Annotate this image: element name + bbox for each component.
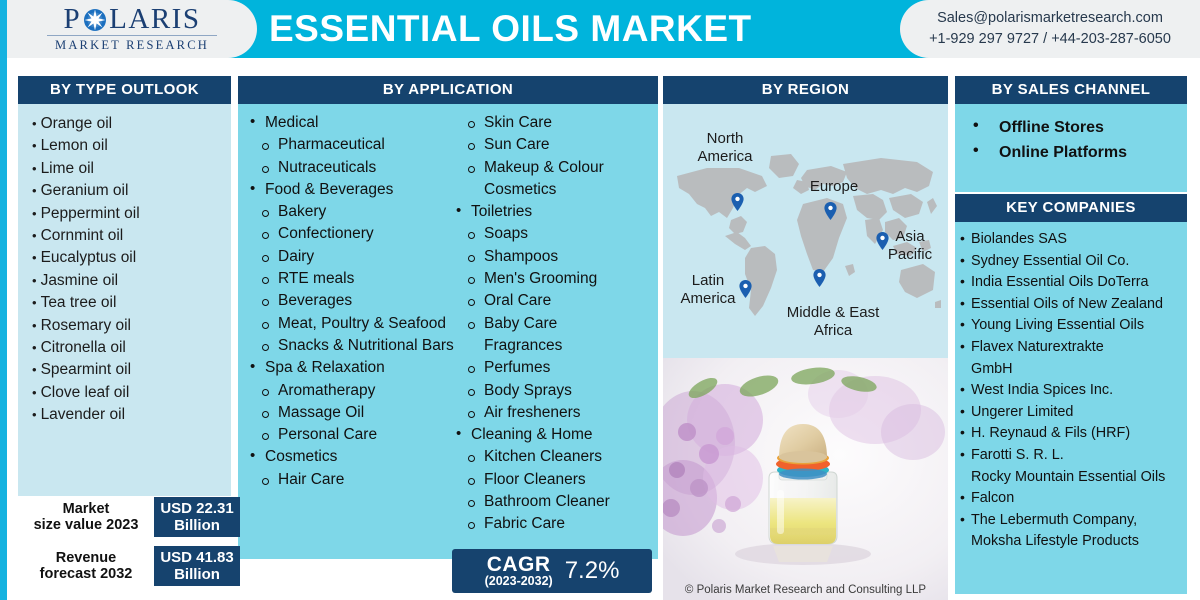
key-company-item: Biolandes SAS — [960, 229, 1183, 251]
type-outlook-item-label: Eucalyptus oil — [41, 249, 137, 266]
type-outlook-item: •Orange oil — [32, 113, 223, 135]
cagr-metric: CAGR (2023-2032) 7.2% — [452, 549, 652, 593]
bullet-icon: • — [32, 318, 37, 333]
sales-channel-list: Offline StoresOnline Platforms — [955, 104, 1187, 192]
application-item: Bathroom Cleaner — [454, 491, 652, 513]
application-item: Aromatherapy — [248, 380, 450, 402]
region-label-middle-east-africa-line1: Middle & East — [787, 304, 880, 321]
brand-logo[interactable]: P — [7, 0, 257, 58]
region-label-middle-east-africa-line2: Africa — [814, 322, 852, 339]
type-outlook-item-label: Rosemary oil — [41, 317, 131, 334]
application-item: Baby Care — [454, 313, 652, 335]
map-pin-icon-asia-pacific[interactable] — [876, 232, 889, 250]
logo-divider — [47, 35, 217, 36]
product-photo-illustration — [663, 358, 948, 600]
logo-wordmark: P — [64, 5, 201, 34]
panel-key-companies: KEY COMPANIES Biolandes SASSydney Essent… — [955, 194, 1187, 594]
market-size-label-line1: Market — [63, 501, 110, 517]
contact-info: Sales@polarismarketresearch.com +1-929 2… — [900, 0, 1200, 58]
key-company-item: Ungerer Limited — [960, 402, 1183, 424]
application-item: Shampoos — [454, 246, 652, 268]
type-outlook-item-label: Cornmint oil — [41, 227, 124, 244]
contact-phone[interactable]: +1-929 297 9727 / +44-203-287-6050 — [929, 29, 1171, 50]
type-outlook-item-label: Orange oil — [41, 115, 113, 132]
region-label-asia-pacific-line2: Pacific — [888, 246, 932, 263]
application-item: Makeup & Colour — [454, 157, 652, 179]
revenue-forecast-value: USD 41.83 Billion — [154, 546, 240, 586]
application-item: Spa & Relaxation — [248, 357, 450, 379]
key-company-item: West India Spices Inc. — [960, 380, 1183, 402]
key-company-item: India Essential Oils DoTerra — [960, 272, 1183, 294]
type-outlook-item: •Tea tree oil — [32, 292, 223, 314]
region-label-asia-pacific-line1: Asia — [895, 228, 924, 245]
panel-type-outlook-heading: BY TYPE OUTLOOK — [18, 76, 231, 104]
type-outlook-item: •Jasmine oil — [32, 270, 223, 292]
application-item: Medical — [248, 112, 450, 134]
application-item: Massage Oil — [248, 402, 450, 424]
region-label-north-america-line1: North — [707, 130, 744, 147]
panel-application-heading: BY APPLICATION — [238, 76, 658, 104]
key-company-item-continuation: Rocky Mountain Essential Oils — [960, 467, 1183, 489]
application-item: Oral Care — [454, 290, 652, 312]
revenue-forecast-label-line2: forecast 2032 — [40, 566, 133, 582]
key-company-item-continuation: Moksha Lifestyle Products — [960, 531, 1183, 553]
type-outlook-list: •Orange oil•Lemon oil•Lime oil•Geranium … — [18, 104, 231, 496]
contact-email[interactable]: Sales@polarismarketresearch.com — [937, 8, 1163, 29]
panel-sales-channel: BY SALES CHANNEL Offline StoresOnline Pl… — [955, 76, 1187, 192]
type-outlook-item-label: Peppermint oil — [41, 205, 140, 222]
region-label-europe-line1: Europe — [810, 178, 858, 195]
logo-tagline: MARKET RESEARCH — [55, 38, 209, 53]
market-size-value-line1: USD 22.31 — [160, 500, 233, 517]
bullet-icon: • — [32, 407, 37, 422]
market-size-label: Market size value 2023 — [18, 497, 154, 537]
application-item: RTE meals — [248, 268, 450, 290]
header-bar: P — [7, 0, 1200, 58]
bullet-icon: • — [32, 228, 37, 243]
key-company-item: Farotti S. R. L. — [960, 445, 1183, 467]
panel-application: BY APPLICATION MedicalPharmaceuticalNutr… — [238, 76, 658, 559]
application-item: Kitchen Cleaners — [454, 446, 652, 468]
application-item: Floor Cleaners — [454, 469, 652, 491]
type-outlook-item: •Geranium oil — [32, 180, 223, 202]
panel-region: BY REGION — [663, 76, 948, 379]
application-item: Bakery — [248, 201, 450, 223]
market-size-value: USD 22.31 Billion — [154, 497, 240, 537]
cagr-period: (2023-2032) — [485, 575, 553, 588]
application-item: Soaps — [454, 223, 652, 245]
bullet-icon: • — [32, 385, 37, 400]
type-outlook-item-label: Clove leaf oil — [41, 384, 130, 401]
panel-sales-channel-heading: BY SALES CHANNEL — [955, 76, 1187, 104]
key-company-item: Falcon — [960, 488, 1183, 510]
key-company-item: Flavex Naturextrakte — [960, 337, 1183, 359]
map-pin-icon-middle-east-africa[interactable] — [813, 269, 826, 287]
revenue-forecast-metric: Revenue forecast 2032 USD 41.83 Billion — [18, 546, 240, 586]
application-item: Cosmetics — [454, 179, 652, 201]
star-icon — [82, 7, 108, 33]
application-item: Pharmaceutical — [248, 134, 450, 156]
application-item: Fabric Care — [454, 513, 652, 535]
sales-channel-item: Online Platforms — [967, 140, 1181, 165]
application-item: Personal Care — [248, 424, 450, 446]
bullet-icon: • — [32, 116, 37, 131]
type-outlook-item: •Citronella oil — [32, 337, 223, 359]
application-item: Confectionery — [248, 223, 450, 245]
application-item: Perfumes — [454, 357, 652, 379]
left-edge-strip — [0, 0, 7, 600]
type-outlook-item-label: Jasmine oil — [41, 272, 119, 289]
bullet-icon: • — [32, 250, 37, 265]
region-map-body: North America Europe Asia Pacific Latin … — [663, 104, 948, 379]
bullet-icon: • — [32, 206, 37, 221]
application-list-right: Skin CareSun CareMakeup & ColourCosmetic… — [450, 112, 652, 553]
bullet-icon: • — [32, 138, 37, 153]
key-company-item: The Lebermuth Company, — [960, 510, 1183, 532]
photo-copyright: © Polaris Market Research and Consulting… — [663, 584, 948, 596]
map-pin-icon-north-america[interactable] — [731, 193, 744, 211]
bullet-icon: • — [32, 362, 37, 377]
key-company-item: Sydney Essential Oil Co. — [960, 251, 1183, 273]
type-outlook-item: •Spearmint oil — [32, 359, 223, 381]
region-label-north-america: North America — [679, 130, 771, 165]
market-size-metric: Market size value 2023 USD 22.31 Billion — [18, 497, 240, 537]
cagr-label-group: CAGR (2023-2032) — [485, 554, 553, 588]
region-label-latin-america: Latin America — [667, 272, 749, 307]
type-outlook-item: •Lime oil — [32, 158, 223, 180]
map-pin-icon-latin-america[interactable] — [739, 280, 752, 298]
application-item: Hair Care — [248, 469, 450, 491]
map-pin-icon-europe[interactable] — [824, 202, 837, 220]
bullet-icon: • — [32, 295, 37, 310]
cagr-value: 7.2% — [565, 557, 620, 585]
application-item: Air fresheners — [454, 402, 652, 424]
key-company-item-continuation: GmbH — [960, 359, 1183, 381]
application-item: Cosmetics — [248, 446, 450, 468]
world-map: North America Europe Asia Pacific Latin … — [663, 104, 948, 379]
type-outlook-item: •Rosemary oil — [32, 315, 223, 337]
type-outlook-item: •Clove leaf oil — [32, 382, 223, 404]
sales-channel-item: Offline Stores — [967, 115, 1181, 140]
key-company-item: Essential Oils of New Zealand — [960, 294, 1183, 316]
application-item: Snacks & Nutritional Bars — [248, 335, 450, 357]
region-label-middle-east-africa: Middle & East Africa — [757, 304, 909, 339]
application-list-left: MedicalPharmaceuticalNutraceuticalsFood … — [248, 112, 450, 553]
application-item: Cleaning & Home — [454, 424, 652, 446]
logo-text-laris: LARIS — [109, 5, 200, 34]
application-item: Men's Grooming — [454, 268, 652, 290]
application-item: Beverages — [248, 290, 450, 312]
application-body: MedicalPharmaceuticalNutraceuticalsFood … — [238, 104, 658, 559]
application-item: Food & Beverages — [248, 179, 450, 201]
key-companies-list: Biolandes SASSydney Essential Oil Co.Ind… — [955, 222, 1187, 594]
region-label-latin-america-line2: America — [680, 290, 735, 307]
type-outlook-item: •Cornmint oil — [32, 225, 223, 247]
infographic-page: P — [0, 0, 1200, 600]
type-outlook-item-label: Lime oil — [41, 160, 94, 177]
panel-region-heading: BY REGION — [663, 76, 948, 104]
application-item: Meat, Poultry & Seafood — [248, 313, 450, 335]
application-item: Sun Care — [454, 134, 652, 156]
application-item: Dairy — [248, 246, 450, 268]
type-outlook-item: •Eucalyptus oil — [32, 247, 223, 269]
region-label-europe: Europe — [791, 178, 877, 196]
application-item: Skin Care — [454, 112, 652, 134]
market-size-value-line2: Billion — [174, 517, 220, 534]
bullet-icon: • — [32, 340, 37, 355]
type-outlook-item-label: Tea tree oil — [41, 294, 117, 311]
type-outlook-item: •Lemon oil — [32, 135, 223, 157]
revenue-forecast-value-line2: Billion — [174, 566, 220, 583]
revenue-forecast-label-line1: Revenue — [56, 550, 116, 566]
panel-key-companies-heading: KEY COMPANIES — [955, 194, 1187, 222]
panel-type-outlook: BY TYPE OUTLOOK •Orange oil•Lemon oil•Li… — [18, 76, 231, 496]
product-photo: © Polaris Market Research and Consulting… — [663, 358, 948, 600]
application-item: Toiletries — [454, 201, 652, 223]
region-label-north-america-line2: America — [697, 148, 752, 165]
cagr-label: CAGR — [487, 554, 551, 575]
application-item: Body Sprays — [454, 380, 652, 402]
type-outlook-item-label: Geranium oil — [41, 182, 129, 199]
type-outlook-item: •Lavender oil — [32, 404, 223, 426]
logo-text-p: P — [64, 5, 82, 34]
application-item: Fragrances — [454, 335, 652, 357]
type-outlook-item-label: Citronella oil — [41, 339, 126, 356]
key-company-item: Young Living Essential Oils — [960, 315, 1183, 337]
revenue-forecast-value-line1: USD 41.83 — [160, 549, 233, 566]
market-size-label-line2: size value 2023 — [34, 517, 139, 533]
page-title: ESSENTIAL OILS MARKET — [269, 0, 752, 58]
revenue-forecast-label: Revenue forecast 2032 — [18, 546, 154, 586]
bullet-icon: • — [32, 183, 37, 198]
application-item: Nutraceuticals — [248, 157, 450, 179]
type-outlook-item: •Peppermint oil — [32, 203, 223, 225]
region-label-latin-america-line1: Latin — [692, 272, 725, 289]
type-outlook-item-label: Spearmint oil — [41, 361, 131, 378]
bullet-icon: • — [32, 161, 37, 176]
type-outlook-item-label: Lemon oil — [41, 137, 108, 154]
bullet-icon: • — [32, 273, 37, 288]
key-company-item: H. Reynaud & Fils (HRF) — [960, 423, 1183, 445]
type-outlook-item-label: Lavender oil — [41, 406, 125, 423]
